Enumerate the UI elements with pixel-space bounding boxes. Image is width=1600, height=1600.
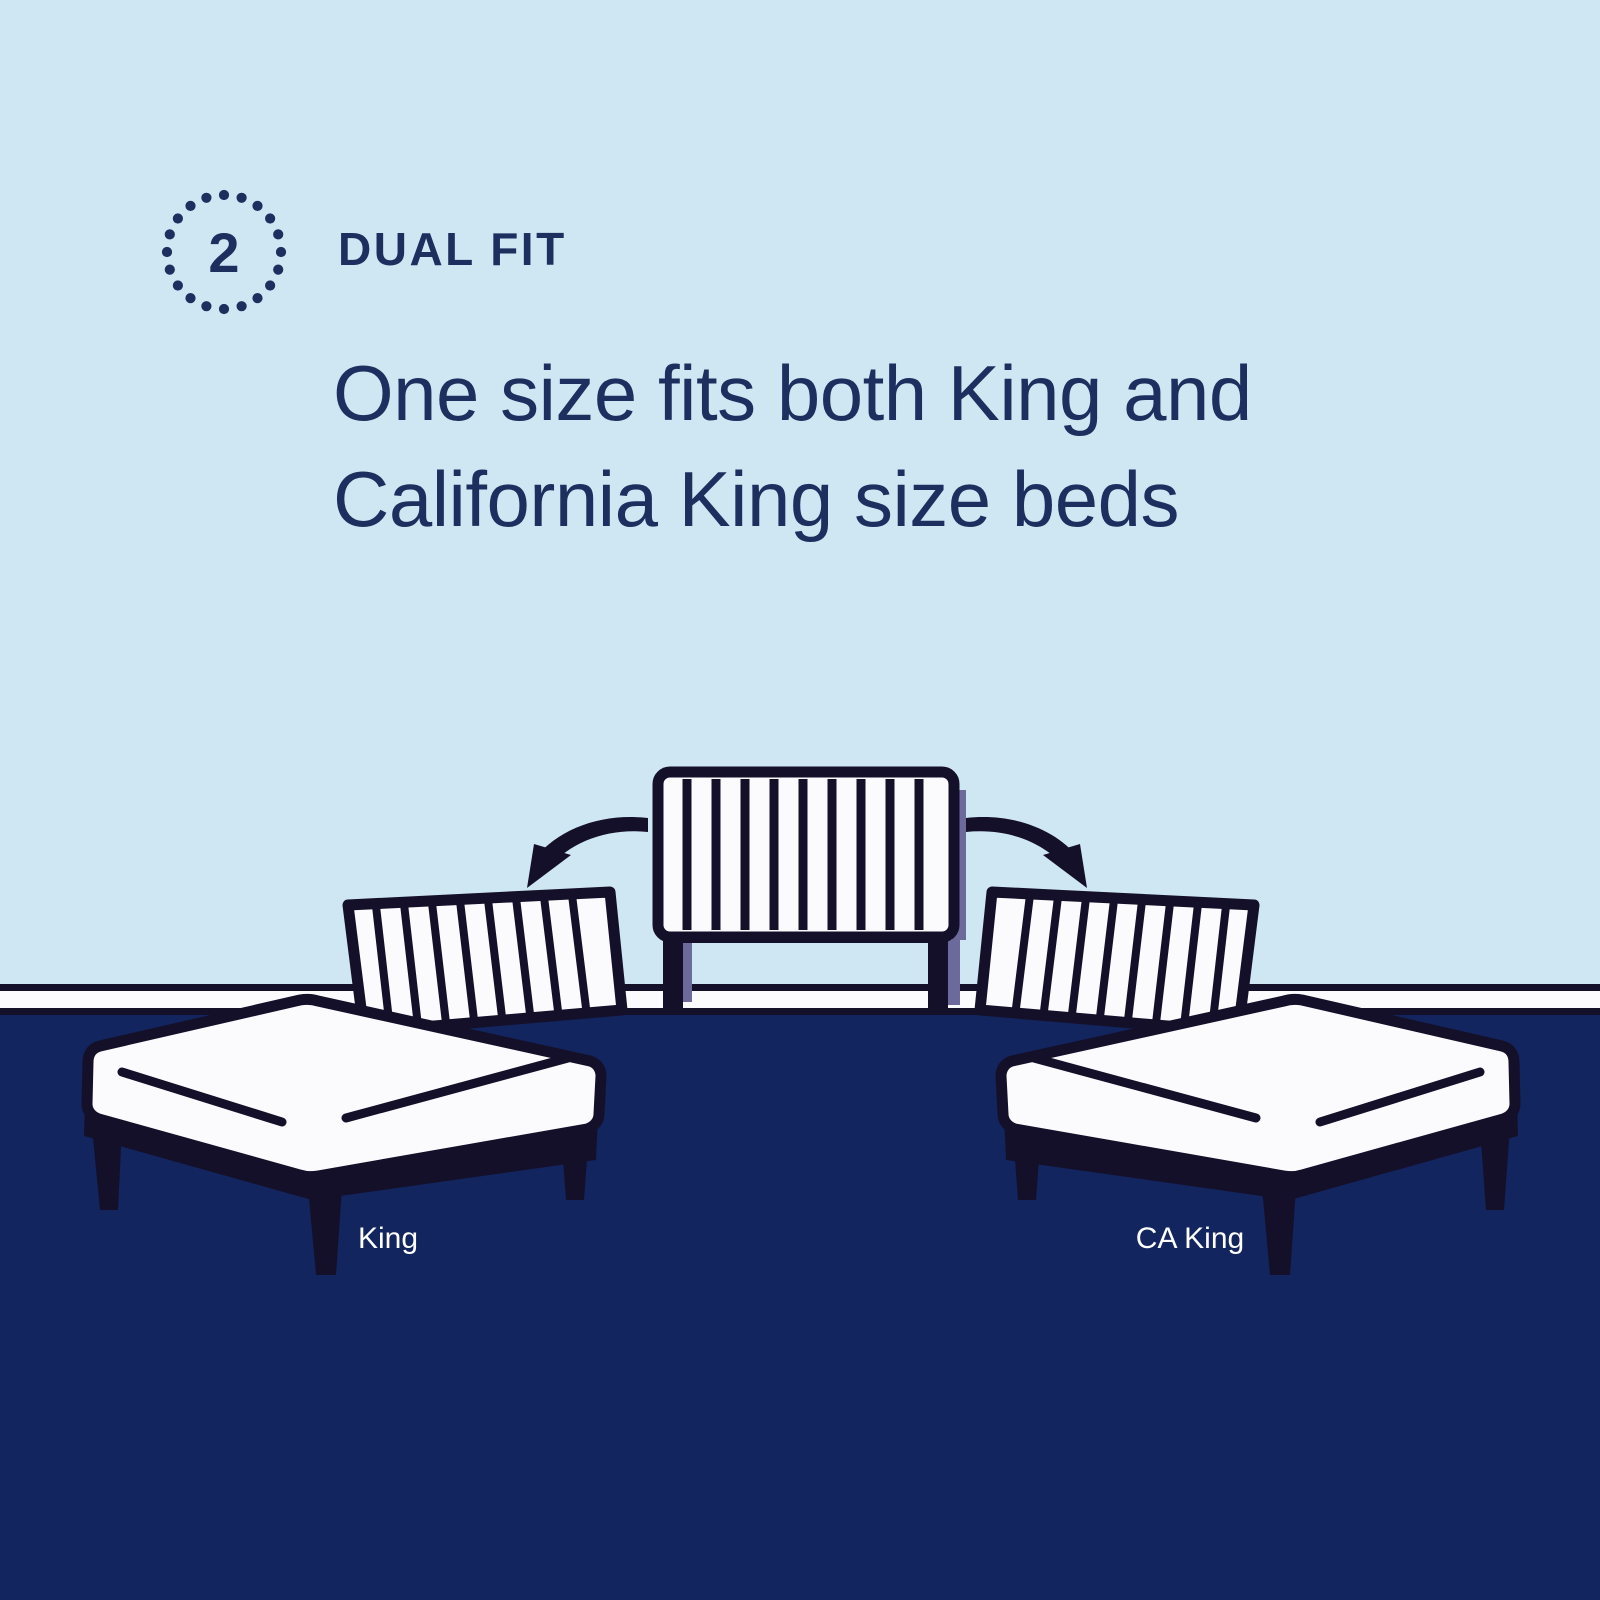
dual-fit-panel: 2 DUAL FIT One size fits both King and C… [0,0,1600,1600]
baseboard-top-edge [0,984,1600,991]
section-eyebrow: DUAL FIT [338,222,567,276]
baseboard-bottom-edge [0,1008,1600,1015]
step-number: 2 [160,188,288,316]
headline-line-2: California King size beds [333,446,1453,552]
headline-line-1: One size fits both King and [333,349,1252,437]
floor-background [0,1015,1600,1600]
baseboard-face [0,991,1600,1008]
step-badge: 2 [160,188,288,316]
page-title: One size fits both King and California K… [333,340,1453,552]
